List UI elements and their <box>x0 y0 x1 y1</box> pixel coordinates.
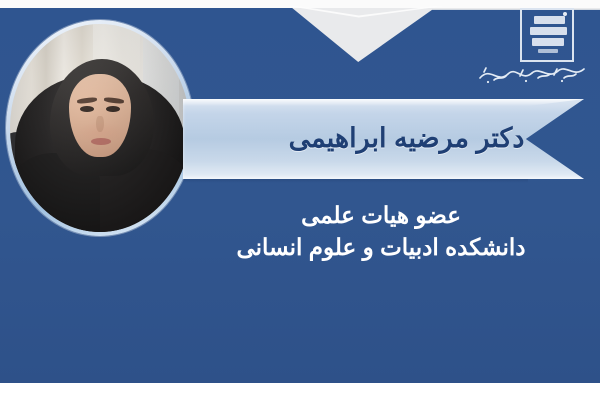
public-relations-script-icon <box>476 58 588 88</box>
name-ribbon: دکتر مرضیه ابراهیمی <box>183 99 584 179</box>
university-seal-icon <box>520 8 574 62</box>
faculty-profile-poster: دکتر مرضیه ابراهیمی عضو هیات علمی دانشکد… <box>0 0 600 400</box>
bottom-white-band <box>0 383 600 400</box>
portrait-ring <box>6 20 194 236</box>
university-logo <box>476 6 588 90</box>
avatar <box>10 24 190 232</box>
subtitle-block: عضو هیات علمی دانشکده ادبیات و علوم انسا… <box>190 200 572 263</box>
subtitle-role: عضو هیات علمی <box>190 200 572 230</box>
page-title: دکتر مرضیه ابراهیمی <box>183 99 584 179</box>
subtitle-faculty: دانشکده ادبیات و علوم انسانی <box>190 232 572 262</box>
